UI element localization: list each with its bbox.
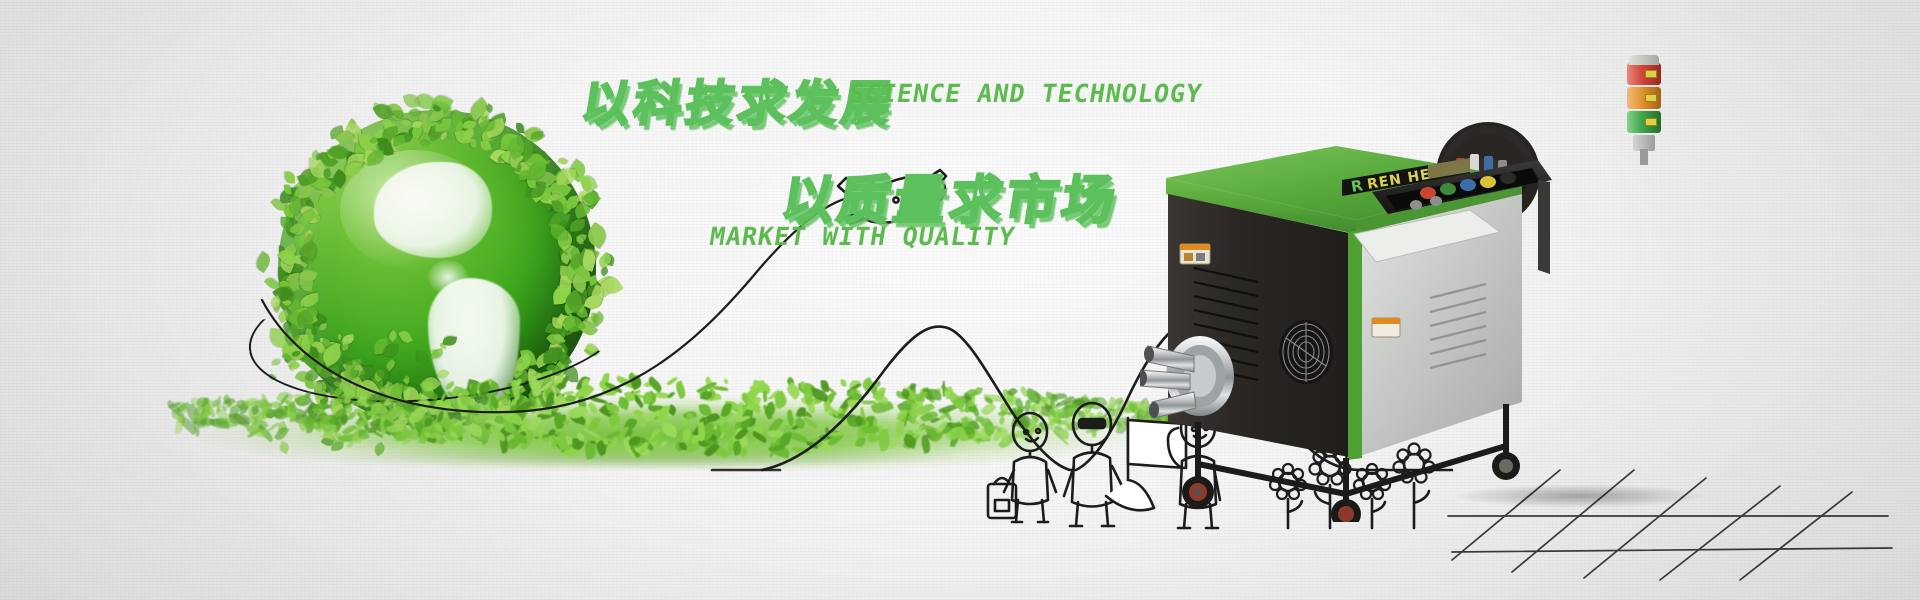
stack-light-post (1640, 149, 1648, 165)
exhaust-fan-grille (1279, 320, 1333, 384)
caster-wheel-center (1331, 499, 1361, 522)
promotional-banner: R REN HE (0, 0, 1920, 600)
warning-label (1180, 244, 1210, 264)
stack-light-cap (1629, 55, 1659, 65)
person-with-luggage (988, 413, 1056, 522)
caster-wheel-rear (1492, 452, 1520, 480)
green-lamp (1627, 111, 1661, 133)
amber-lamp (1627, 87, 1661, 109)
headline-line1-english: SCIENCE AND TECHNOLOGY (847, 79, 1205, 108)
industrial-plasma-machine: R REN HE (1140, 62, 1560, 522)
red-lamp-label (1645, 70, 1657, 78)
side-warning-label (1372, 318, 1400, 337)
amber-lamp-label (1645, 94, 1657, 102)
chrome-nozzle-head (1140, 336, 1234, 418)
caster-wheel-front (1182, 476, 1214, 508)
machine-front-panel (1168, 194, 1354, 458)
green-lamp-label (1645, 118, 1657, 126)
headline-line2-english: MARKET WITH QUALITY (708, 222, 1018, 251)
red-lamp (1627, 63, 1661, 85)
corner-post (1348, 229, 1362, 460)
tower-stack-light (1627, 63, 1661, 147)
